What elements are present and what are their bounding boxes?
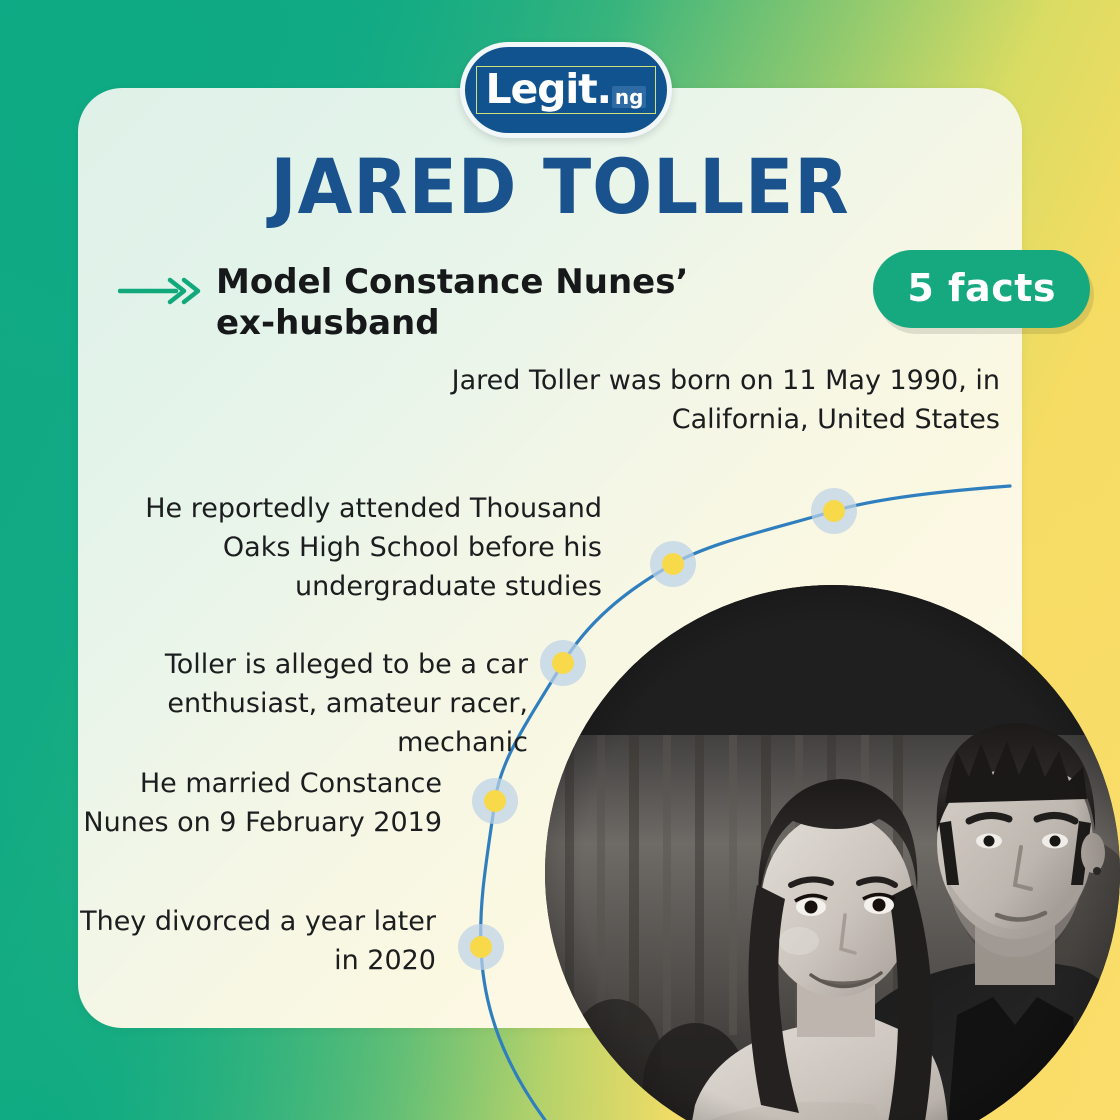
- fact-item-3: Toller is alleged to be a car enthusiast…: [80, 646, 528, 763]
- page-title: JARED TOLLER: [39, 142, 1081, 231]
- double-chevron-arrow-icon: [118, 276, 202, 311]
- brand-logo[interactable]: Legit . ng: [460, 42, 672, 138]
- fact-item-1: Jared Toller was born on 11 May 1990, in…: [430, 362, 1000, 440]
- brand-logo-tld: ng: [612, 86, 647, 108]
- fact-item-2: He reportedly attended Thousand Oaks Hig…: [110, 490, 602, 607]
- fact-item-4: He married Constance Nunes on 9 February…: [70, 765, 442, 843]
- subtitle-row: Model Constance Nunes’ ex-husband: [118, 262, 718, 345]
- fact-item-5: They divorced a year later in 2020: [72, 903, 436, 981]
- brand-logo-dot: .: [596, 69, 610, 110]
- brand-logo-box: Legit . ng: [476, 66, 657, 114]
- page-subtitle: Model Constance Nunes’ ex-husband: [216, 262, 718, 345]
- status-badge: 5 facts: [873, 250, 1090, 328]
- infographic-canvas: JARED TOLLER Model Constance Nunes’ ex-h…: [0, 0, 1120, 1120]
- brand-logo-text: Legit: [486, 69, 597, 110]
